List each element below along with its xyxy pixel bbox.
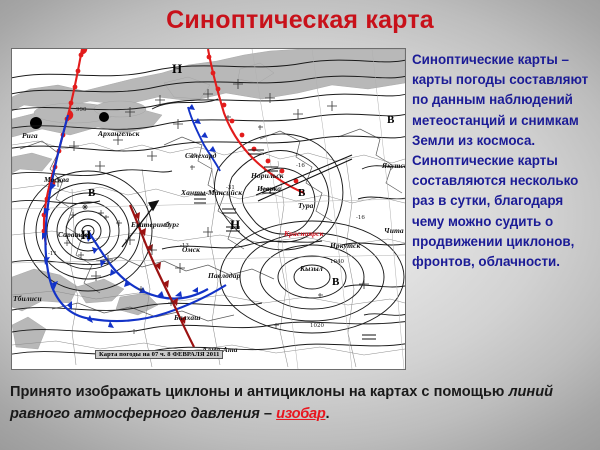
city-label: Якутск (382, 161, 406, 170)
pressure-center-high: В (298, 187, 305, 199)
map-caption: Карта погоды на 07 ч. 8 ФЕВРАЛЯ 2011 (95, 350, 223, 359)
definition-period: . (325, 406, 329, 422)
pressure-center-low: Н (81, 227, 91, 243)
term-izobar: изобар (276, 406, 325, 422)
pressure-center-high: В (387, 114, 394, 126)
slide-root: Синоптическая карта (0, 0, 600, 450)
city-label: Красноярск (284, 229, 323, 238)
city-label: Чита (384, 226, 404, 235)
pressure-center-high: В (88, 187, 95, 199)
city-label: Кызыл (300, 264, 323, 273)
svg-text:1040: 1040 (330, 259, 344, 265)
city-label: Омск (182, 245, 200, 254)
city-label: Москва (44, 175, 69, 184)
city-label: Игарка (257, 184, 281, 193)
city-label: Павлодар (208, 271, 240, 280)
pressure-center-low: Н (230, 217, 240, 233)
svg-text:-16: -16 (296, 163, 305, 169)
city-label: Балхаш (174, 313, 201, 322)
svg-text:-16: -16 (356, 215, 365, 221)
pressure-center-high: В (332, 276, 339, 288)
city-label: Тура (298, 201, 314, 210)
city-label: Тбилиси (13, 294, 42, 303)
city-label: Екатеринбург (131, 220, 179, 229)
definition-paragraph: Принято изображать циклоны и антициклоны… (10, 382, 592, 425)
description-paragraph: Синоптические карты – карты погоды соста… (412, 50, 594, 272)
city-label: Ханты-Мансийск (181, 188, 242, 197)
svg-text:1020: 1020 (310, 323, 324, 329)
map-drawing: 990 1040 1020 -13 -31 -16 -26 -16 -15 -1… (12, 49, 405, 369)
city-label: Рига (22, 131, 38, 140)
city-label: Иркутск (330, 241, 360, 250)
city-label: Архангельск (98, 129, 140, 138)
svg-text:990: 990 (76, 107, 87, 113)
synoptic-map: 990 1040 1020 -13 -31 -16 -26 -16 -15 -1… (11, 48, 406, 370)
page-title: Синоптическая карта (0, 2, 600, 38)
svg-text:-11: -11 (48, 251, 57, 257)
city-label: Салехард (185, 151, 216, 160)
pressure-center-low: Н (172, 61, 182, 77)
city-label: Норильск (251, 171, 284, 180)
definition-part-1: Принято изображать циклоны и антициклоны… (10, 384, 508, 400)
definition-dash: – (260, 406, 276, 422)
